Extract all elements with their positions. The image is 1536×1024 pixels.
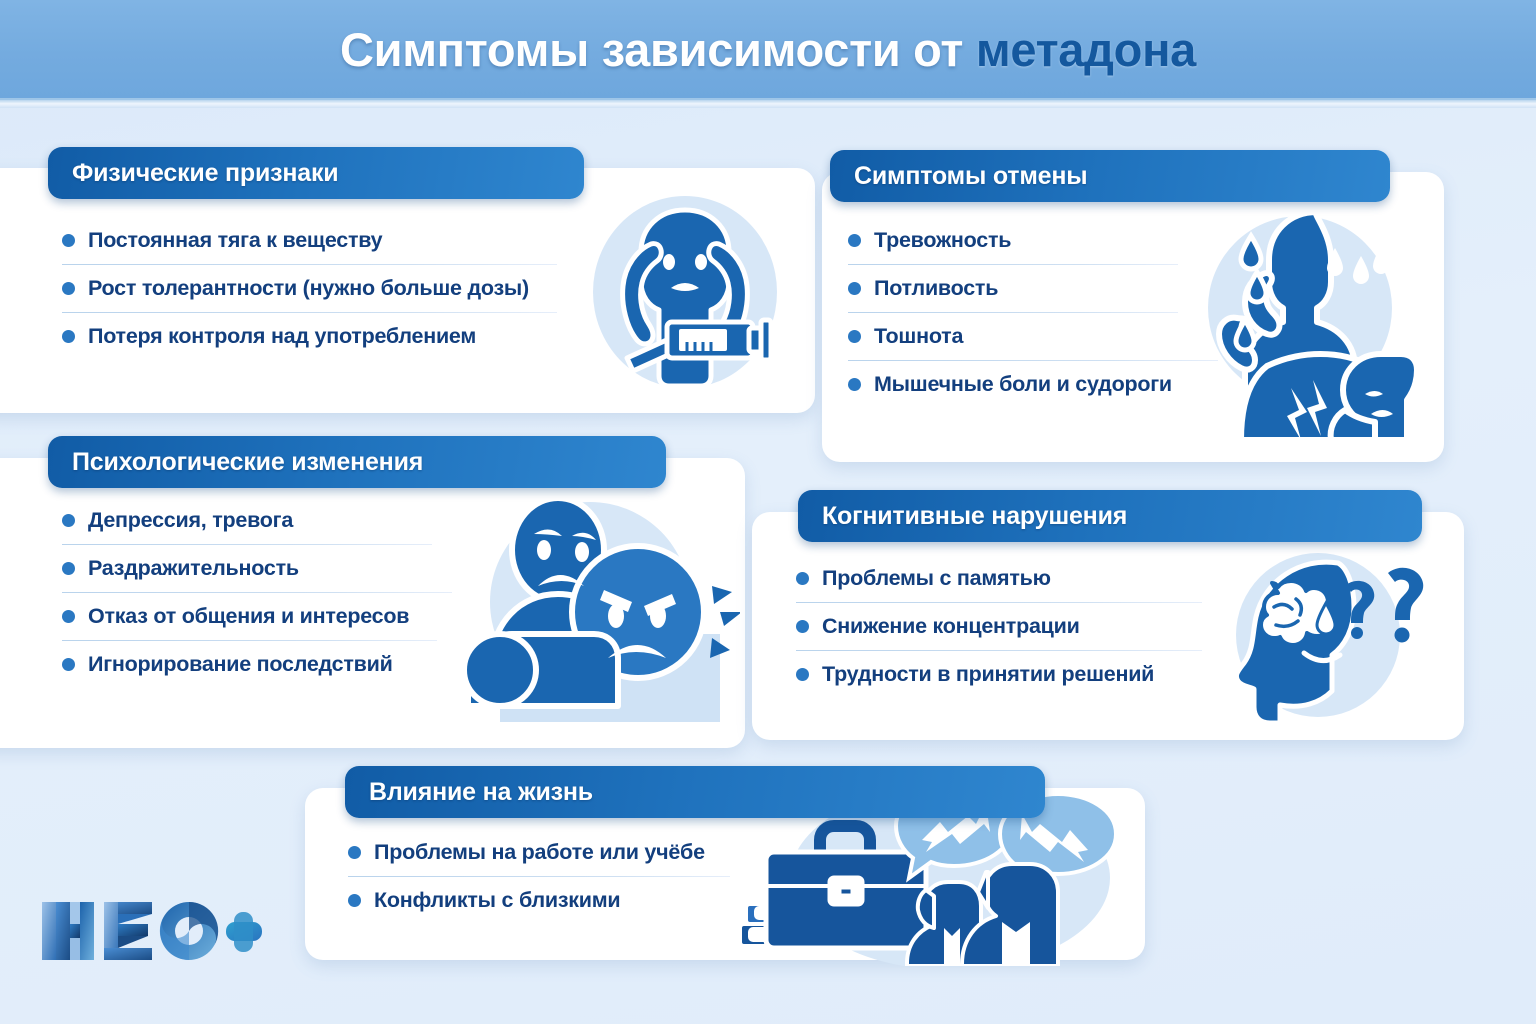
- list-item-label: Рост толерантности (нужно больше дозы): [88, 276, 529, 301]
- list-item-label: Игнорирование последствий: [88, 652, 393, 677]
- page-title-main: Симптомы зависимости от: [340, 23, 976, 76]
- header-divider: [0, 98, 1536, 108]
- list-item: Тревожность: [848, 228, 1238, 253]
- bullet-icon: [848, 330, 861, 343]
- list-item-label: Тревожность: [874, 228, 1011, 253]
- card-withdrawal-symptoms-list: Тревожность Потливость Тошнота Мышечные …: [848, 228, 1238, 397]
- card-physical-signs-title: Физические признаки: [72, 159, 338, 188]
- list-item: Отказ от общения и интересов: [62, 604, 462, 629]
- bullet-icon: [62, 562, 75, 575]
- list-item-label: Снижение концентрации: [822, 614, 1080, 639]
- list-divider: [848, 312, 1178, 313]
- list-item-label: Проблемы с памятью: [822, 566, 1051, 591]
- list-divider: [62, 264, 557, 265]
- bullet-icon: [848, 282, 861, 295]
- card-life-impact-list: Проблемы на работе или учёбе Конфликты с…: [348, 840, 748, 913]
- card-psychological-changes-header: Психологические изменения: [48, 436, 666, 488]
- list-item: Снижение концентрации: [796, 614, 1216, 639]
- list-item-label: Проблемы на работе или учёбе: [374, 840, 705, 865]
- list-divider: [796, 650, 1202, 651]
- bullet-icon: [62, 514, 75, 527]
- bullet-icon: [796, 620, 809, 633]
- list-item: Потливость: [848, 276, 1238, 301]
- list-item-label: Потеря контроля над употреблением: [88, 324, 476, 349]
- person-headache-syringe-icon: [575, 192, 795, 392]
- page-title: Симптомы зависимости от метадона: [340, 22, 1196, 77]
- bullet-icon: [62, 330, 75, 343]
- card-withdrawal-symptoms-title: Симптомы отмены: [854, 162, 1087, 191]
- list-divider: [62, 640, 437, 641]
- list-item-label: Постоянная тяга к веществу: [88, 228, 382, 253]
- list-divider: [348, 876, 730, 877]
- list-item: Игнорирование последствий: [62, 652, 462, 677]
- list-item: Проблемы на работе или учёбе: [348, 840, 748, 865]
- list-item: Мышечные боли и судороги: [848, 372, 1238, 397]
- bullet-icon: [62, 282, 75, 295]
- list-item: Раздражительность: [62, 556, 462, 581]
- list-divider: [848, 360, 1218, 361]
- list-item-label: Раздражительность: [88, 556, 299, 581]
- list-divider: [62, 592, 452, 593]
- card-cognitive-impairment-title: Когнитивные нарушения: [822, 502, 1127, 531]
- card-cognitive-impairment-header: Когнитивные нарушения: [798, 490, 1422, 542]
- list-item: Трудности в принятии решений: [796, 662, 1216, 687]
- neo-plus-logo: [36, 888, 266, 974]
- list-item: Проблемы с памятью: [796, 566, 1216, 591]
- list-item-label: Трудности в принятии решений: [822, 662, 1154, 687]
- list-item: Конфликты с близкими: [348, 888, 748, 913]
- bullet-icon: [62, 658, 75, 671]
- list-item: Потеря контроля над употреблением: [62, 324, 562, 349]
- list-item-label: Потливость: [874, 276, 998, 301]
- bullet-icon: [796, 668, 809, 681]
- list-item-label: Тошнота: [874, 324, 963, 349]
- card-psychological-changes-list: Депрессия, тревога Раздражительность Отк…: [62, 508, 462, 677]
- list-divider: [62, 544, 432, 545]
- bullet-icon: [62, 610, 75, 623]
- page-header: Симптомы зависимости от метадона: [0, 0, 1536, 98]
- card-physical-signs-list: Постоянная тяга к веществу Рост толерант…: [62, 228, 562, 349]
- card-withdrawal-symptoms-header: Симптомы отмены: [830, 150, 1390, 202]
- list-divider: [796, 602, 1202, 603]
- list-item-label: Мышечные боли и судороги: [874, 372, 1172, 397]
- list-item-label: Конфликты с близкими: [374, 888, 620, 913]
- bullet-icon: [848, 234, 861, 247]
- head-brain-question-icon: [1218, 545, 1428, 730]
- card-life-impact-header: Влияние на жизнь: [345, 766, 1045, 818]
- list-item: Постоянная тяга к веществу: [62, 228, 562, 253]
- bullet-icon: [796, 572, 809, 585]
- list-item: Рост толерантности (нужно больше дозы): [62, 276, 562, 301]
- list-divider: [62, 312, 557, 313]
- bullet-icon: [848, 378, 861, 391]
- list-divider: [848, 264, 1178, 265]
- bullet-icon: [348, 846, 361, 859]
- page-title-accent: метадона: [976, 23, 1196, 76]
- bullet-icon: [62, 234, 75, 247]
- card-psychological-changes-title: Психологические изменения: [72, 448, 423, 477]
- card-cognitive-impairment-list: Проблемы с памятью Снижение концентрации…: [796, 566, 1216, 687]
- card-physical-signs-header: Физические признаки: [48, 147, 584, 199]
- sad-angry-faces-icon: [440, 482, 740, 722]
- list-item-label: Депрессия, тревога: [88, 508, 293, 533]
- list-item: Депрессия, тревога: [62, 508, 462, 533]
- list-item: Тошнота: [848, 324, 1238, 349]
- list-item-label: Отказ от общения и интересов: [88, 604, 409, 629]
- card-life-impact-title: Влияние на жизнь: [369, 778, 593, 807]
- bullet-icon: [348, 894, 361, 907]
